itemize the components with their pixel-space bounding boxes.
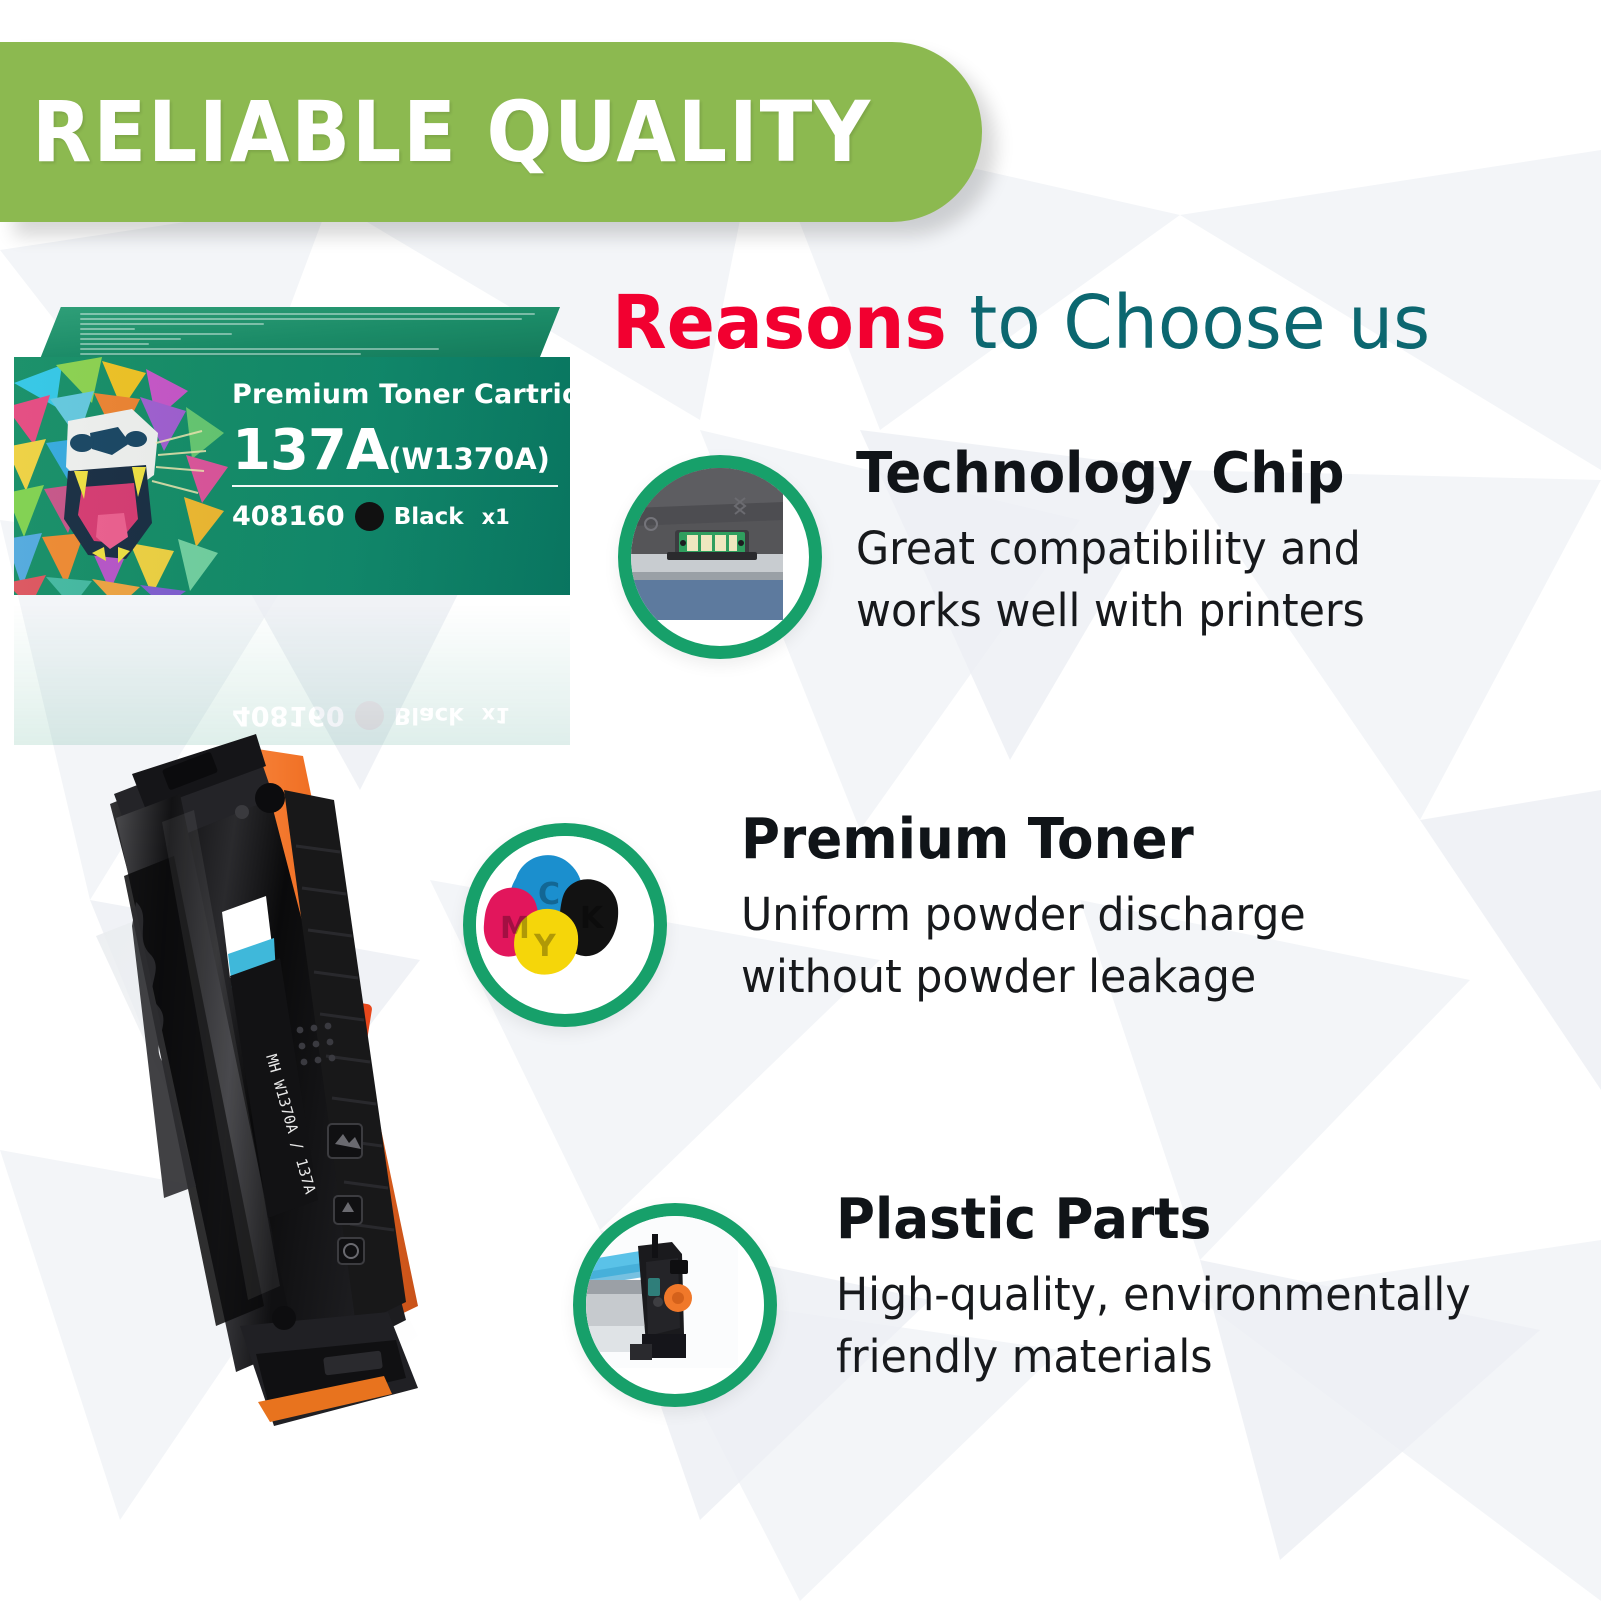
product-box-reflection: 408160 Black x1	[14, 595, 570, 745]
banner-label: RELIABLE QUALITY	[32, 90, 872, 174]
feature-title: Premium Toner	[741, 811, 1306, 870]
feature-body-line1: Uniform powder discharge	[741, 884, 1306, 946]
feature-text-block: Premium Toner Uniform powder discharge w…	[741, 811, 1335, 1008]
product-box-model-suffix: (W1370A)	[388, 442, 550, 476]
cmyk-powder-icon: C M Y K	[463, 823, 667, 1027]
infographic-page: RELIABLE QUALITY Reasons to Choose us	[0, 0, 1601, 1601]
svg-text:Y: Y	[533, 929, 557, 964]
feature-body-line1: High-quality, environmentally	[836, 1264, 1471, 1326]
feature-body-line2: without powder leakage	[741, 946, 1306, 1008]
plastic-parts-illustration	[586, 1216, 738, 1368]
product-box-divider	[232, 485, 558, 487]
product-box-label: Premium Toner Cartridge 137A(W1370A) 408…	[232, 379, 562, 532]
feature-premium-toner: C M Y K Premium Toner Uniform powder dis…	[463, 823, 1523, 1043]
product-box-front-panel: Premium Toner Cartridge 137A(W1370A) 408…	[14, 357, 570, 595]
feature-plastic-parts: Plastic Parts High-quality, environmenta…	[573, 1203, 1601, 1423]
toner-chip-illustration	[631, 468, 783, 620]
page-title-rest: to Choose us	[947, 280, 1430, 366]
product-box-model-number: 137A	[232, 418, 388, 483]
product-box-title: Premium Toner Cartridge	[232, 379, 562, 410]
product-box-quantity: x1	[482, 505, 510, 529]
product-box-model: 137A(W1370A)	[232, 418, 562, 483]
toner-chip-icon	[618, 455, 822, 659]
svg-text:K: K	[580, 901, 605, 936]
plastic-parts-icon	[573, 1203, 777, 1407]
feature-body: Great compatibility and works well with …	[856, 518, 1365, 642]
svg-text:M: M	[500, 911, 530, 946]
product-box-sku: 408160	[232, 501, 345, 532]
feature-body: High-quality, environmentally friendly m…	[836, 1264, 1471, 1388]
product-box-sku-row: 408160 Black x1	[232, 501, 562, 532]
svg-text:C: C	[538, 877, 560, 912]
feature-title: Technology Chip	[856, 445, 1365, 504]
feature-body-line2: works well with printers	[856, 580, 1365, 642]
feature-title: Plastic Parts	[836, 1191, 1471, 1250]
product-box: Premium Toner Cartridge 137A(W1370A) 408…	[14, 307, 570, 607]
feature-text-block: Technology Chip Great compatibility and …	[856, 445, 1392, 642]
feature-text-block: Plastic Parts High-quality, environmenta…	[836, 1191, 1504, 1388]
page-title-highlight: Reasons	[612, 280, 947, 366]
feature-body-line1: Great compatibility and	[856, 518, 1365, 580]
page-title: Reasons to Choose us	[612, 285, 1430, 363]
toner-cartridge-photo: MH W1370A / 137A	[88, 726, 438, 1438]
product-box-color: Black	[394, 504, 464, 530]
product-box-top-panel	[40, 307, 560, 359]
feature-body-line2: friendly materials	[836, 1326, 1471, 1388]
reliable-quality-banner: RELIABLE QUALITY	[0, 42, 982, 222]
product-box-top-specs	[80, 313, 540, 353]
cmyk-powder-illustration: C M Y K	[476, 836, 628, 988]
feature-body: Uniform powder discharge without powder …	[741, 884, 1306, 1008]
feature-technology-chip: Technology Chip Great compatibility and …	[618, 455, 1518, 675]
black-swatch-icon	[355, 502, 384, 531]
